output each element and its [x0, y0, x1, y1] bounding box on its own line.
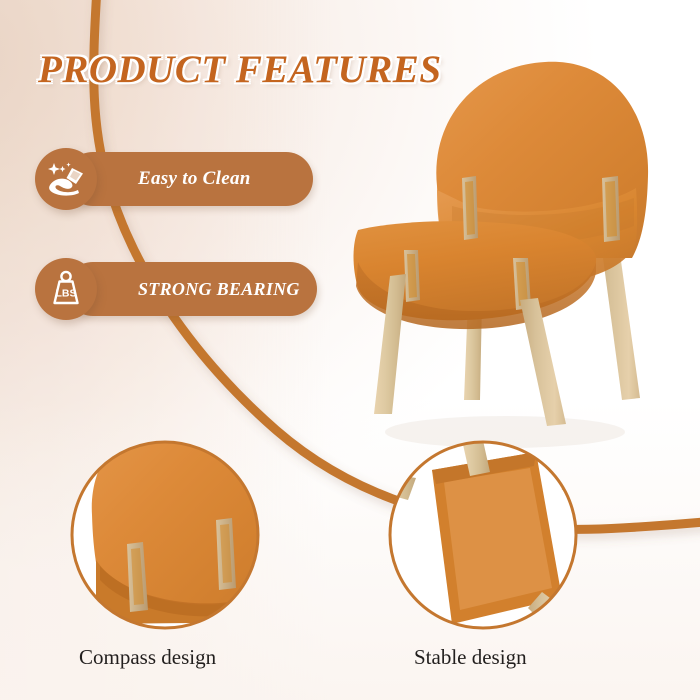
feature-icon-circle: LBS: [35, 258, 97, 320]
weight-lbs-icon: LBS: [46, 269, 86, 309]
closeup-backrest: [92, 410, 286, 610]
callout-caption-stable: Stable design: [414, 645, 527, 670]
weight-icon-text: LBS: [56, 288, 77, 300]
callout-stable-design: [386, 436, 584, 632]
feature-pill: STRONG BEARING: [66, 262, 317, 316]
callout-compass-design: [70, 410, 292, 632]
feature-pill: Easy to Clean: [66, 152, 313, 206]
page-title: PRODUCT FEATURES: [38, 47, 442, 92]
hand-wiping-sparkle-icon: [46, 159, 86, 199]
callout-layer: [0, 0, 700, 700]
callout-caption-compass: Compass design: [79, 645, 216, 670]
feature-icon-circle: [35, 148, 97, 210]
infographic-page: PRODUCT FEATURES Easy to Clean STRONG BE…: [0, 0, 700, 700]
feature-label: STRONG BEARING: [138, 279, 300, 300]
feature-label: Easy to Clean: [138, 168, 251, 190]
